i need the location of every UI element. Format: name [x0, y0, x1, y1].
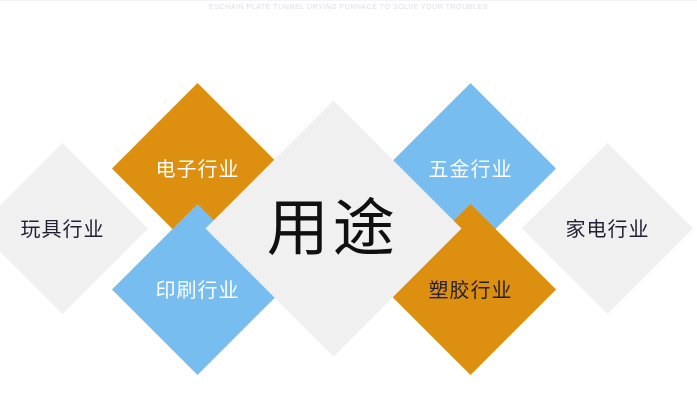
diamond-label-center: 用途 [267, 197, 399, 259]
diamond-label-appliance: 家电行业 [566, 219, 650, 239]
usage-diamond-diagram: 电子行业 五金行业 玩具行业 家电行业 印刷行业 塑胶行业 用途 [0, 0, 697, 414]
diamond-label-plastic: 塑胶行业 [429, 280, 513, 300]
diamond-label-hardware: 五金行业 [429, 159, 513, 179]
diamond-label-printing: 印刷行业 [156, 280, 240, 300]
diamond-label-toys: 玩具行业 [20, 219, 104, 239]
diamond-label-electronics: 电子行业 [156, 159, 240, 179]
